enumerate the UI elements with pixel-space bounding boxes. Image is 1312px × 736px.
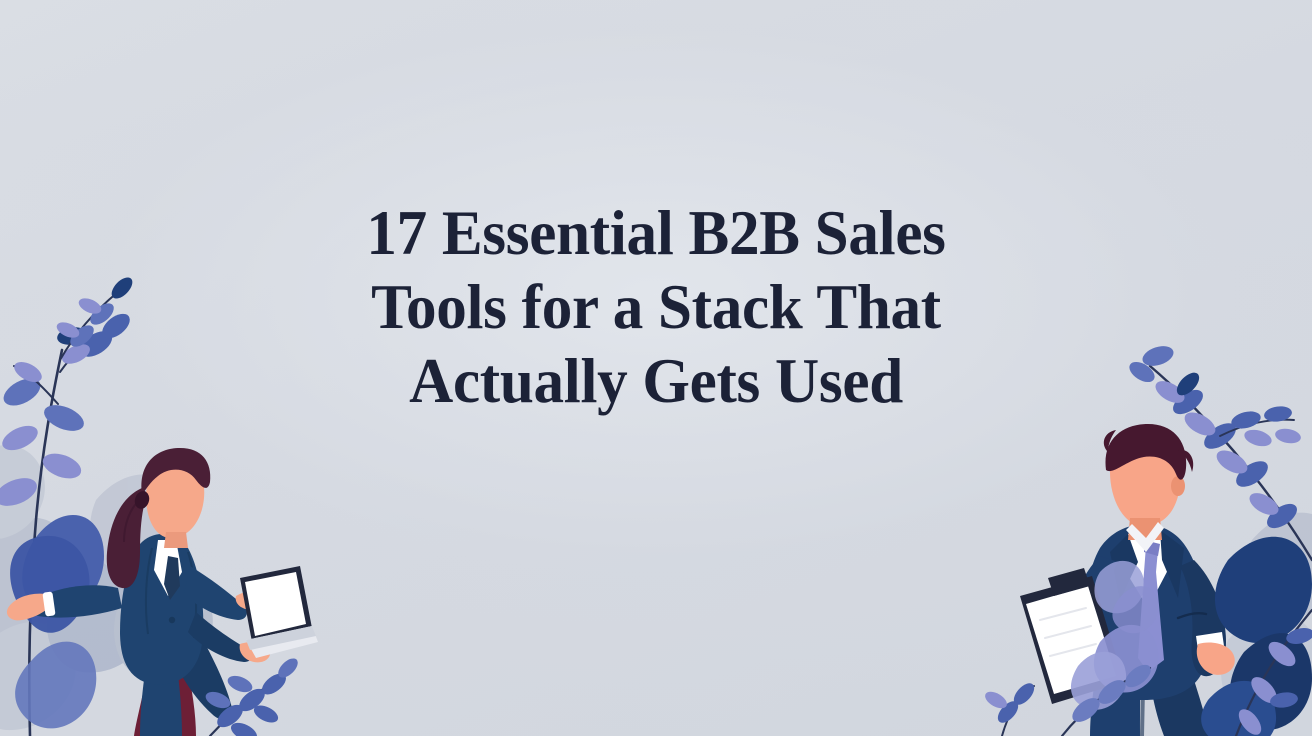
article-hero-banner: 17 Essential B2B Sales Tools for a Stack…: [0, 0, 1312, 736]
illustration-right: [982, 0, 1312, 736]
illustration-left: [0, 0, 340, 736]
foliage-branch-lower-left: [203, 655, 301, 736]
laptop-device: [240, 566, 318, 658]
